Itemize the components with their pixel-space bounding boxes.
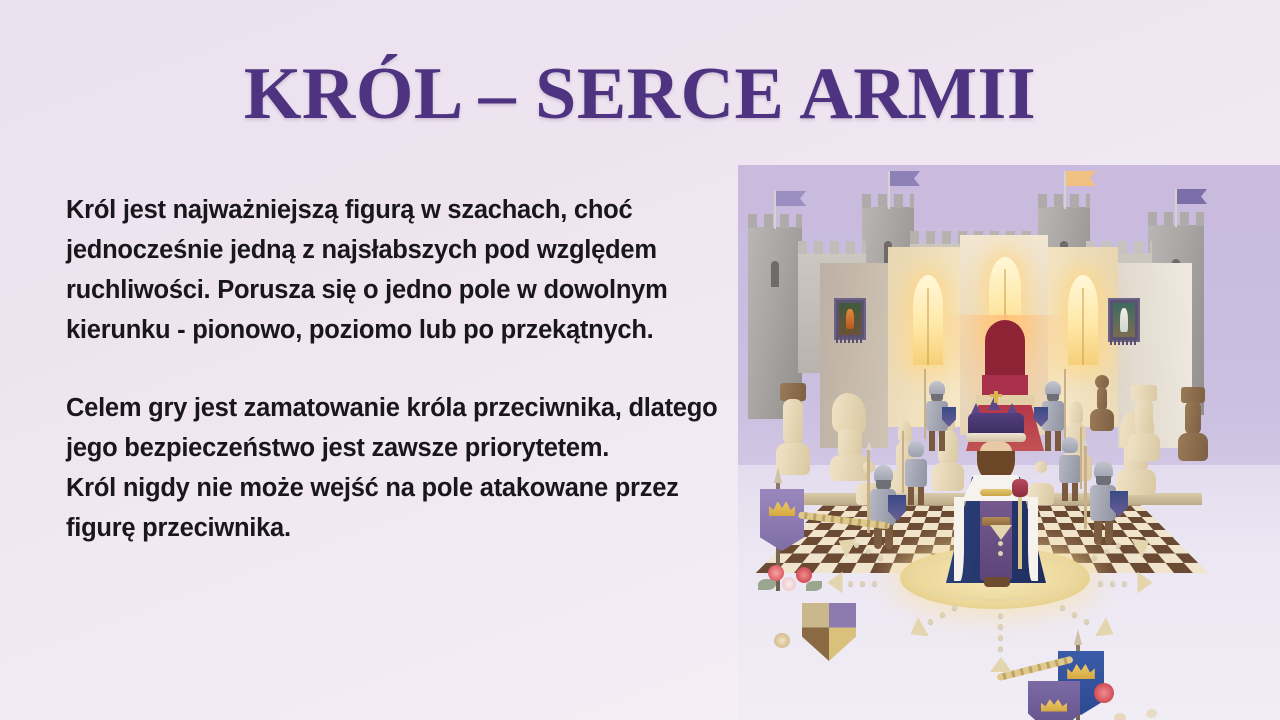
king-crown [968,413,1024,435]
rose-single-right [1094,683,1114,703]
rose-single-left [774,633,790,648]
king-collar-chain [980,489,1012,496]
gothic-window-left [913,275,943,365]
chess-piece-rook-far-right [1178,387,1208,461]
rose-cluster-left [758,563,822,597]
page-title: KRÓL – SERCE ARMII [0,52,1280,137]
chess-king-castle-illustration [738,165,1280,720]
king-feet [984,577,1010,587]
flag-2 [890,171,920,186]
tapestry-left [834,298,866,340]
flag-3 [1066,171,1096,186]
banner-right-crown-emblem [1067,663,1095,679]
guard-soldier-front-right [1086,461,1120,547]
flagpole-3 [1064,171,1066,209]
crown-cross [994,391,998,403]
throne-backrest [985,320,1025,382]
king-figure [940,393,1052,589]
petal-3 [1146,709,1157,718]
king-scepter-orb [1012,479,1028,497]
king-cloak-trim-left [954,497,964,581]
king-cloak-trim-right [1028,497,1038,581]
king-scepter [1018,493,1022,569]
paragraph-2: Celem gry jest zamatowanie króla przeciw… [66,388,736,548]
flagpole-2 [888,171,890,209]
flagpole-4 [1175,189,1177,227]
floor-shield-crown [1028,681,1080,720]
gothic-window-right [1068,275,1098,365]
flag-1 [776,191,806,206]
banner-left-crown-emblem [769,500,795,516]
body-text: Król jest najważniejszą figurą w szachac… [66,190,736,548]
petal-1 [1114,713,1126,720]
chess-piece-rook-left [776,383,810,475]
chess-piece-pawn-right [1090,375,1114,431]
chess-piece-rook-right [1128,385,1160,461]
flag-4 [1177,189,1207,204]
guard-soldier-mid-left [902,441,930,505]
guard-soldier-front-left [866,465,900,551]
crown-cross-bar [990,394,1002,397]
flagpole-1 [774,191,776,229]
floor-shield-crown-emblem [1041,699,1067,712]
paragraph-1: Król jest najważniejszą figurą w szachac… [66,190,736,350]
tapestry-right [1108,298,1140,342]
guard-soldier-mid-right [1056,437,1084,501]
